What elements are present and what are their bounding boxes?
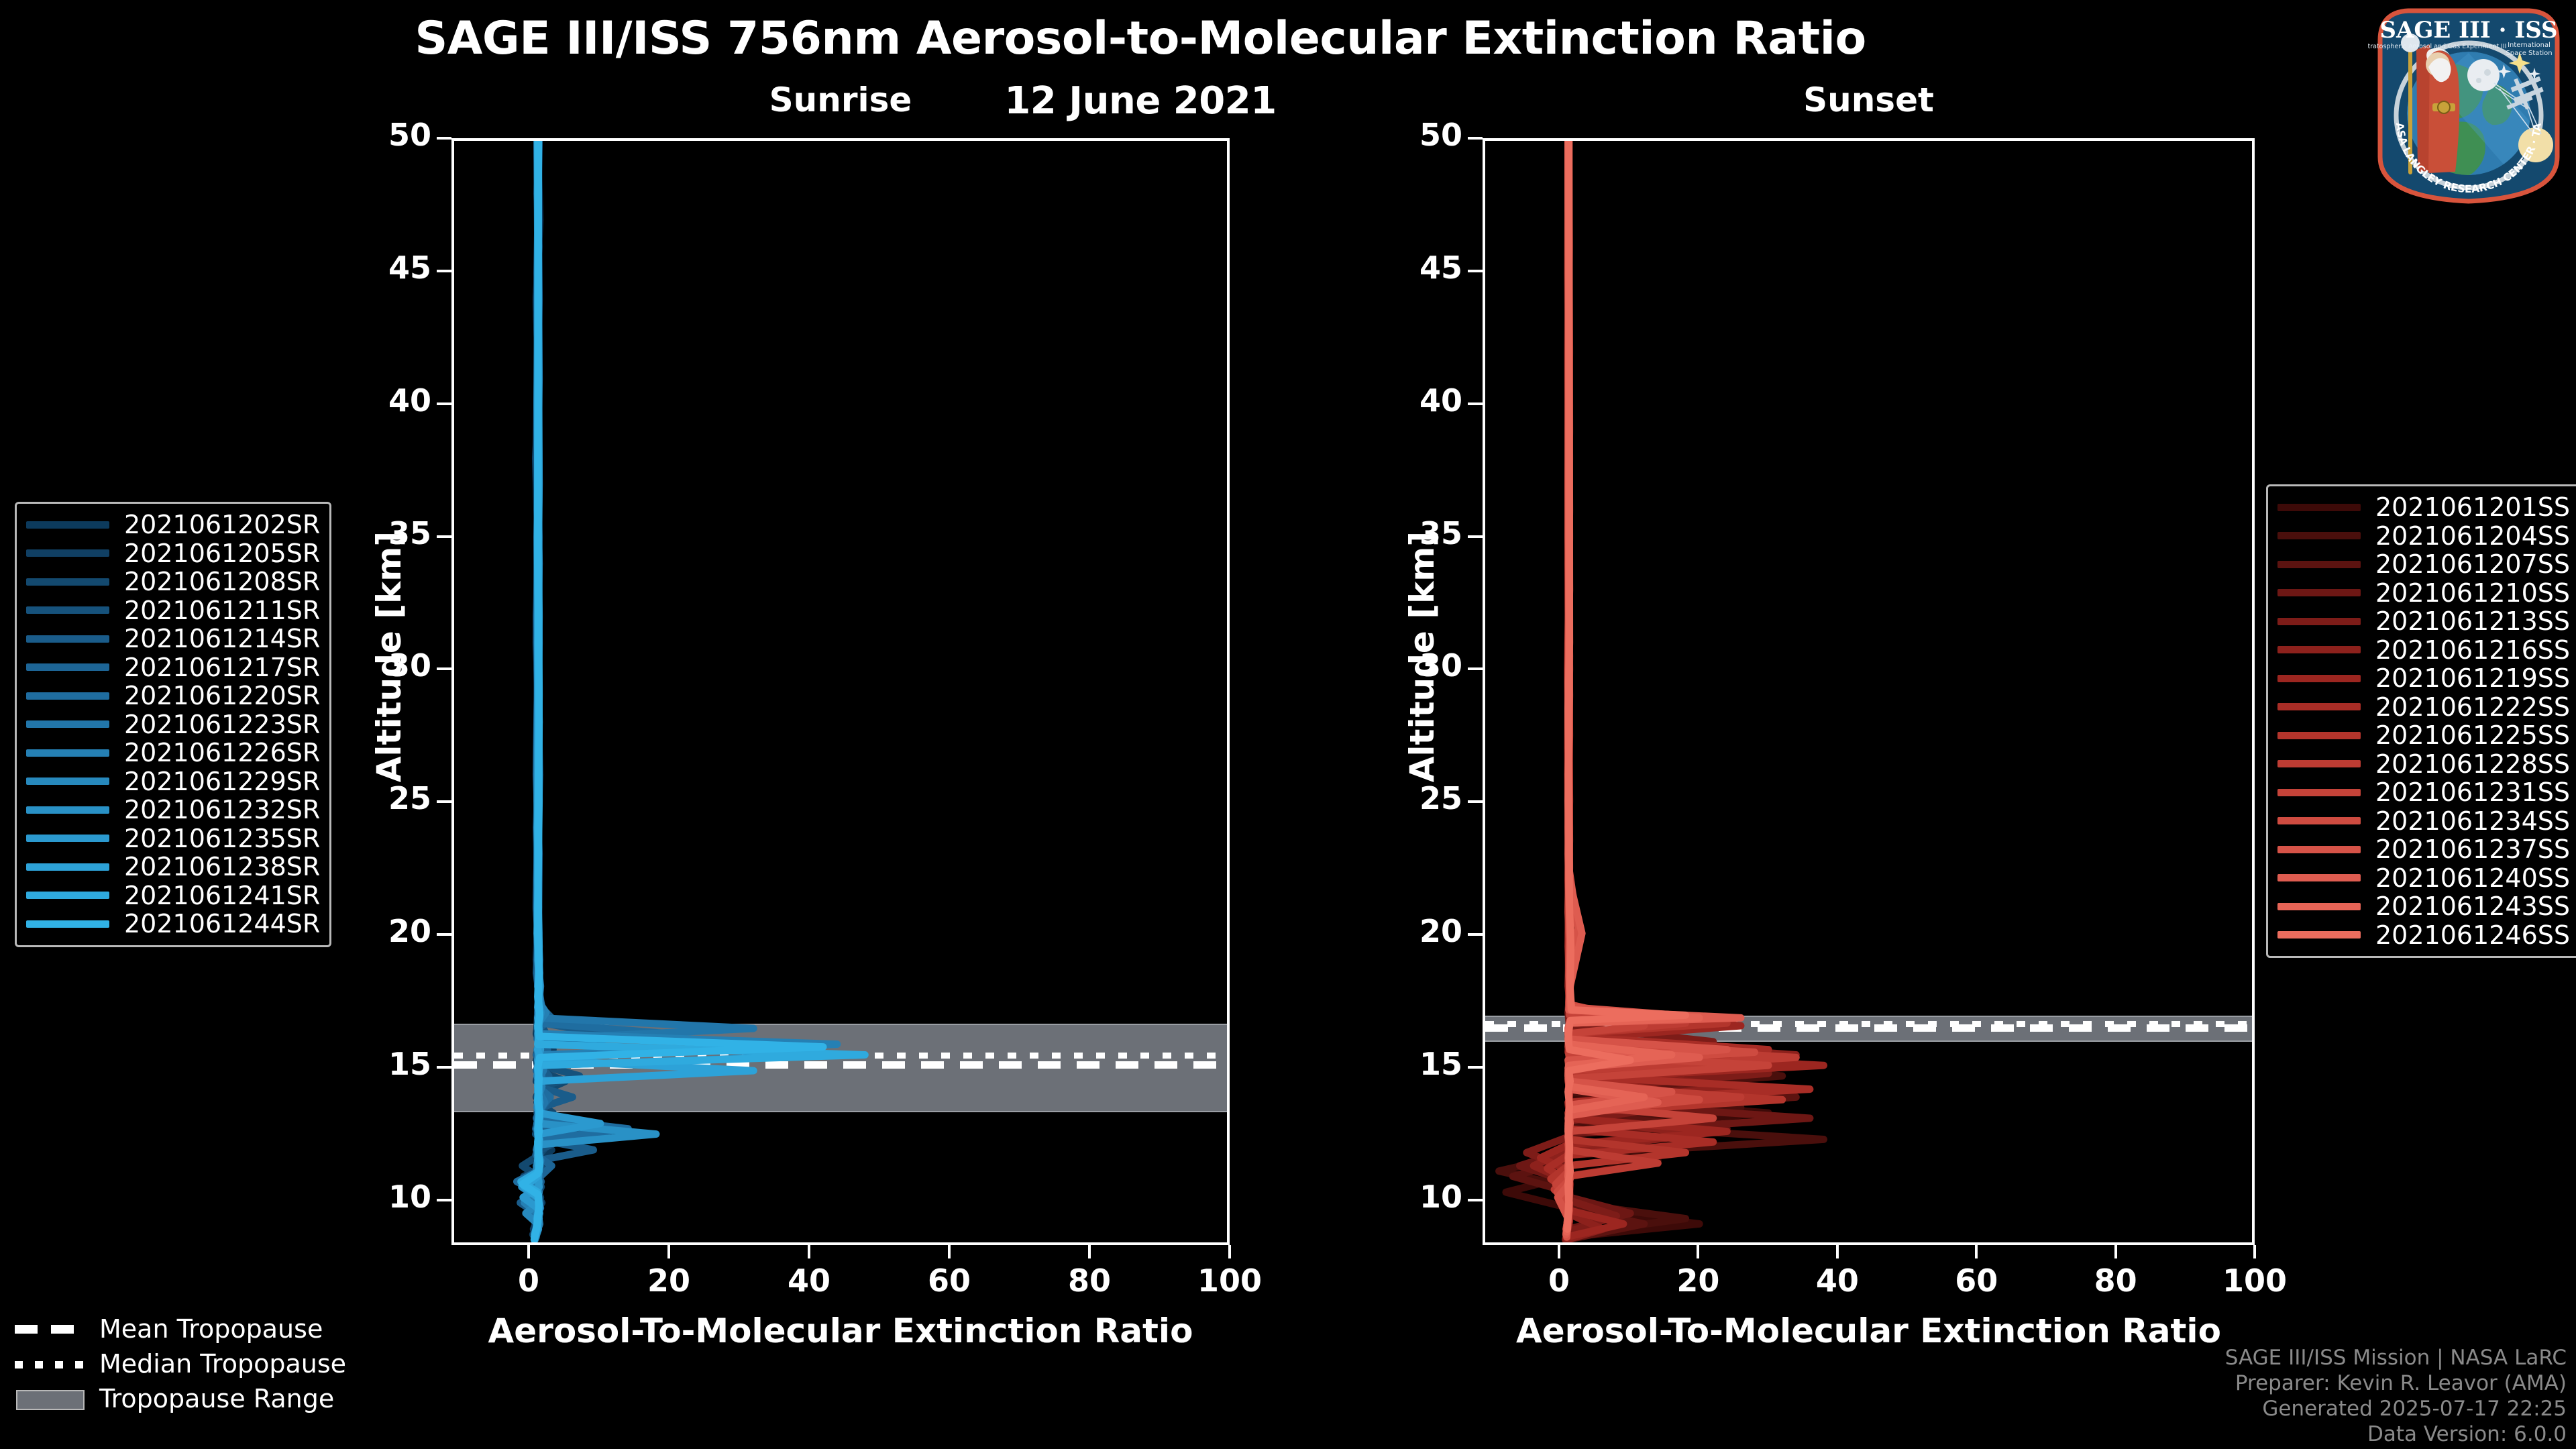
legend-color-swatch [26, 806, 109, 814]
y-tick-label: 50 [331, 117, 431, 153]
legend-sunrise[interactable]: 2021061202SR2021061205SR2021061208SR2021… [15, 502, 331, 947]
legend-color-swatch [2277, 589, 2361, 596]
legend-item[interactable]: 2021061202SR [26, 511, 320, 539]
credit-line-mission: SAGE III/ISS Mission | NASA LaRC [2225, 1345, 2567, 1371]
legend-item[interactable]: 2021061219SS [2277, 664, 2570, 693]
legend-item[interactable]: 2021061213SS [2277, 607, 2570, 636]
legend-color-swatch [2277, 532, 2361, 539]
legend-item-label: 2021061202SR [124, 510, 320, 539]
x-tick-label: 20 [608, 1263, 729, 1299]
legend-item-label: 2021061232SR [124, 795, 320, 824]
x-tick-mark [808, 1245, 810, 1258]
x-tick-mark [1558, 1245, 1560, 1258]
mean-tropopause-label: Mean Tropopause [99, 1314, 323, 1344]
legend-color-swatch [26, 663, 109, 671]
legend-item[interactable]: 2021061228SS [2277, 750, 2570, 779]
y-tick-mark [1468, 402, 1483, 405]
logo-subtitle-left: Stratospheric Aerosol and Gas Experiment… [2368, 43, 2507, 50]
credit-block: SAGE III/ISS Mission | NASA LaRC Prepare… [2225, 1345, 2567, 1447]
x-tick-mark [2253, 1245, 2256, 1258]
y-tick-mark [1468, 137, 1483, 140]
page-title: SAGE III/ISS 756nm Aerosol-to-Molecular … [0, 12, 2281, 65]
legend-item[interactable]: 2021061241SR [26, 881, 320, 910]
credit-line-preparer: Preparer: Kevin R. Leavor (AMA) [2225, 1371, 2567, 1396]
x-tick-mark [948, 1245, 951, 1258]
legend-item[interactable]: 2021061205SR [26, 539, 320, 568]
legend-item-label: 2021061244SR [124, 909, 320, 938]
legend-item[interactable]: 2021061217SR [26, 653, 320, 682]
legend-color-swatch [26, 635, 109, 643]
legend-item[interactable]: 2021061237SS [2277, 835, 2570, 864]
legend-item[interactable]: 2021061220SR [26, 682, 320, 710]
legend-item-label: 2021061246SS [2375, 920, 2570, 950]
y-tick-label: 40 [331, 382, 431, 419]
legend-sunset[interactable]: 2021061201SS2021061204SS2021061207SS2021… [2266, 484, 2576, 958]
legend-item[interactable]: 2021061235SR [26, 824, 320, 853]
y-tick-label: 40 [1362, 382, 1462, 419]
x-tick-label: 100 [2194, 1263, 2315, 1299]
profile-lines-sunset [1485, 141, 2252, 1242]
legend-item-label: 2021061237SS [2375, 835, 2570, 864]
legend-color-swatch [2277, 789, 2361, 796]
y-tick-label: 45 [331, 250, 431, 286]
legend-item-label: 2021061213SS [2375, 606, 2570, 636]
x-tick-mark [1697, 1245, 1699, 1258]
x-tick-label: 0 [1499, 1263, 1619, 1299]
legend-color-swatch [26, 521, 109, 529]
legend-item-label: 2021061205SR [124, 539, 320, 568]
legend-color-swatch [26, 863, 109, 871]
legend-item-label: 2021061240SS [2375, 863, 2570, 893]
legend-item-label: 2021061226SR [124, 738, 320, 767]
sage-iii-iss-mission-patch-logo: SAGE III · ISS Stratospheric Aerosol and… [2368, 3, 2569, 204]
legend-item[interactable]: 2021061207SS [2277, 550, 2570, 579]
y-tick-mark [1468, 1066, 1483, 1069]
y-tick-label: 10 [1362, 1179, 1462, 1215]
legend-item[interactable]: 2021061244SR [26, 910, 320, 938]
y-tick-mark [437, 933, 451, 936]
x-axis-label-sunset: Aerosol-To-Molecular Extinction Ratio [1483, 1311, 2255, 1350]
panel-title-sunrise: Sunrise [451, 80, 1230, 119]
legend-item[interactable]: 2021061214SR [26, 625, 320, 653]
logo-subtitle-right-1: International [2508, 42, 2551, 49]
tropopause-range-swatch [15, 1389, 86, 1409]
legend-item-label: 2021061210SS [2375, 578, 2570, 608]
legend-item[interactable]: 2021061223SR [26, 710, 320, 739]
legend-item-label: 2021061234SS [2375, 806, 2570, 836]
legend-color-swatch [26, 692, 109, 700]
y-tick-mark [1468, 667, 1483, 670]
x-tick-label: 60 [1916, 1263, 2037, 1299]
x-tick-mark [1975, 1245, 1978, 1258]
legend-item[interactable]: 2021061201SS [2277, 493, 2570, 522]
legend-item-label: 2021061223SR [124, 710, 320, 739]
legend-item[interactable]: 2021061232SR [26, 796, 320, 824]
plot-area-sunrise[interactable] [451, 138, 1230, 1245]
legend-item-label: 2021061235SR [124, 824, 320, 853]
legend-item[interactable]: 2021061234SS [2277, 807, 2570, 836]
legend-item-tropopause-range[interactable]: Tropopause Range [15, 1381, 346, 1416]
legend-item[interactable]: 2021061204SS [2277, 522, 2570, 551]
y-tick-mark [437, 535, 451, 538]
legend-item-label: 2021061225SS [2375, 720, 2570, 750]
figure-canvas: SAGE III/ISS 756nm Aerosol-to-Molecular … [0, 0, 2576, 1449]
x-tick-mark [1088, 1245, 1091, 1258]
legend-item[interactable]: 2021061243SS [2277, 892, 2570, 921]
legend-color-swatch [2277, 703, 2361, 710]
legend-item[interactable]: 2021061226SR [26, 739, 320, 767]
legend-item-label: 2021061207SS [2375, 549, 2570, 579]
legend-color-swatch [26, 892, 109, 899]
y-tick-mark [437, 137, 451, 140]
y-tick-mark [437, 1066, 451, 1069]
legend-item[interactable]: 2021061208SR [26, 568, 320, 596]
legend-item-label: 2021061228SS [2375, 749, 2570, 779]
y-tick-mark [1468, 535, 1483, 538]
legend-item[interactable]: 2021061231SS [2277, 778, 2570, 807]
legend-item[interactable]: 2021061238SR [26, 853, 320, 881]
y-tick-label: 20 [331, 913, 431, 949]
legend-color-swatch [26, 720, 109, 728]
panel-title-sunset: Sunset [1483, 80, 2255, 119]
legend-color-swatch [2277, 846, 2361, 853]
legend-item[interactable]: 2021061216SS [2277, 636, 2570, 665]
legend-color-swatch [26, 749, 109, 757]
legend-color-swatch [2277, 504, 2361, 511]
legend-color-swatch [2277, 675, 2361, 682]
legend-color-swatch [26, 835, 109, 842]
y-tick-mark [437, 402, 451, 405]
y-axis-label-sunrise: Altitude [km] [370, 516, 409, 798]
legend-color-swatch [2277, 874, 2361, 881]
legend-item[interactable]: 2021061210SS [2277, 579, 2570, 608]
x-tick-label: 40 [1777, 1263, 1898, 1299]
legend-color-swatch [2277, 931, 2361, 938]
plot-area-sunset[interactable] [1483, 138, 2255, 1245]
legend-item[interactable]: 2021061246SS [2277, 921, 2570, 950]
legend-item-label: 2021061214SR [124, 624, 320, 653]
x-tick-label: 80 [1029, 1263, 1150, 1299]
median-tropopause-label: Median Tropopause [99, 1349, 346, 1379]
x-tick-label: 100 [1169, 1263, 1290, 1299]
logo-title: SAGE III · ISS [2379, 17, 2557, 44]
legend-item-label: 2021061208SR [124, 567, 320, 596]
x-tick-label: 40 [749, 1263, 869, 1299]
legend-color-swatch [2277, 646, 2361, 653]
legend-color-swatch [2277, 561, 2361, 568]
x-tick-mark [1228, 1245, 1231, 1258]
credit-line-generated: Generated 2025-07-17 22:25 [2225, 1396, 2567, 1421]
legend-item-label: 2021061229SR [124, 767, 320, 796]
x-tick-label: 0 [468, 1263, 589, 1299]
y-tick-mark [437, 667, 451, 670]
profile-lines-sunrise [454, 141, 1227, 1242]
legend-color-swatch [2277, 760, 2361, 767]
legend-color-swatch [26, 578, 109, 586]
legend-item[interactable]: 2021061240SS [2277, 864, 2570, 893]
y-tick-mark [1468, 933, 1483, 936]
y-tick-mark [1468, 270, 1483, 272]
legend-item-label: 2021061241SR [124, 881, 320, 910]
legend-item-label: 2021061238SR [124, 852, 320, 881]
legend-color-swatch [26, 920, 109, 928]
y-tick-label: 45 [1362, 250, 1462, 286]
y-tick-label: 50 [1362, 117, 1462, 153]
x-tick-mark [527, 1245, 530, 1258]
y-tick-mark [437, 270, 451, 272]
credit-line-version: Data Version: 6.0.0 [2225, 1421, 2567, 1447]
x-tick-mark [1836, 1245, 1839, 1258]
y-tick-label: 15 [331, 1046, 431, 1082]
legend-item-label: 2021061243SS [2375, 892, 2570, 921]
legend-item-label: 2021061211SR [124, 596, 320, 625]
logo-moon [2467, 59, 2500, 91]
legend-item-median-tropopause[interactable]: Median Tropopause [15, 1346, 346, 1381]
x-tick-label: 20 [1638, 1263, 1758, 1299]
x-axis-label-sunrise: Aerosol-To-Molecular Extinction Ratio [451, 1311, 1230, 1350]
y-tick-label: 10 [331, 1179, 431, 1215]
legend-item-label: 2021061231SS [2375, 777, 2570, 807]
x-tick-mark [667, 1245, 670, 1258]
legend-item-label: 2021061222SS [2375, 692, 2570, 722]
legend-color-swatch [2277, 732, 2361, 739]
legend-item[interactable]: 2021061222SS [2277, 693, 2570, 722]
legend-item[interactable]: 2021061211SR [26, 596, 320, 625]
y-tick-label: 15 [1362, 1046, 1462, 1082]
legend-color-swatch [26, 777, 109, 785]
legend-color-swatch [2277, 903, 2361, 910]
legend-item-label: 2021061219SS [2375, 663, 2570, 693]
legend-item[interactable]: 2021061225SS [2277, 721, 2570, 750]
legend-tropopause[interactable]: Mean TropopauseMedian TropopauseTropopau… [15, 1311, 346, 1416]
tropopause-range-label: Tropopause Range [99, 1384, 334, 1413]
median-tropopause-swatch [15, 1354, 86, 1374]
x-tick-mark [2114, 1245, 2117, 1258]
y-tick-label: 20 [1362, 913, 1462, 949]
legend-item-label: 2021061216SS [2375, 635, 2570, 665]
x-tick-label: 80 [2055, 1263, 2176, 1299]
mean-tropopause-swatch [15, 1319, 86, 1339]
y-axis-label-sunset: Altitude [km] [1403, 516, 1442, 798]
legend-color-swatch [2277, 618, 2361, 625]
y-tick-mark [437, 800, 451, 803]
y-tick-mark [437, 1199, 451, 1201]
y-tick-mark [1468, 1199, 1483, 1201]
legend-item-mean-tropopause[interactable]: Mean Tropopause [15, 1311, 346, 1346]
legend-color-swatch [26, 549, 109, 557]
legend-item-label: 2021061220SR [124, 681, 320, 710]
legend-item-label: 2021061201SS [2375, 492, 2570, 522]
y-tick-mark [1468, 800, 1483, 803]
logo-subtitle-right-2: Space Station [2506, 50, 2552, 57]
x-tick-label: 60 [889, 1263, 1010, 1299]
legend-item[interactable]: 2021061229SR [26, 767, 320, 796]
legend-item-label: 2021061204SS [2375, 521, 2570, 551]
legend-color-swatch [26, 606, 109, 614]
legend-item-label: 2021061217SR [124, 653, 320, 682]
legend-color-swatch [2277, 817, 2361, 824]
